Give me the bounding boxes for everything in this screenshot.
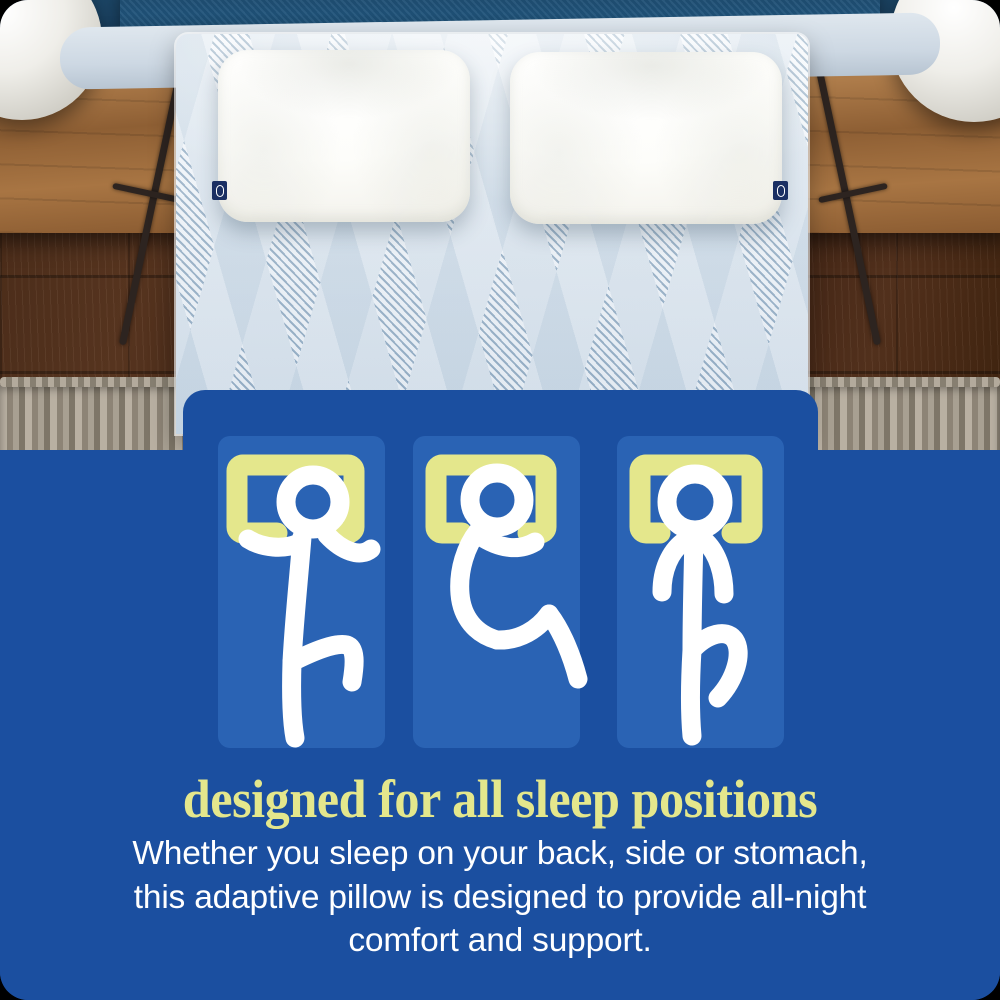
- pillow-left: [218, 50, 470, 222]
- sleep-position-figures: [0, 436, 1000, 766]
- back-sleeper-figure: [662, 474, 738, 736]
- body-line-1: Whether you sleep on your back, side or …: [82, 832, 918, 876]
- promo-image: designed for all sleep positions Whether…: [0, 0, 1000, 1000]
- body-line-3: comfort and support.: [82, 919, 918, 963]
- pillow-right: [510, 52, 782, 224]
- brand-logo-tag: [773, 181, 788, 200]
- pillow-surface-shading: [510, 52, 782, 224]
- body-copy: Whether you sleep on your back, side or …: [82, 832, 918, 963]
- figures-svg: [0, 436, 1000, 766]
- side-sleeper-figure: [460, 473, 578, 679]
- page-title: designed for all sleep positions: [35, 772, 965, 826]
- body-line-2: this adaptive pillow is designed to prov…: [82, 876, 918, 920]
- brand-logo-tag: [212, 181, 227, 200]
- pillow-surface-shading: [218, 50, 470, 222]
